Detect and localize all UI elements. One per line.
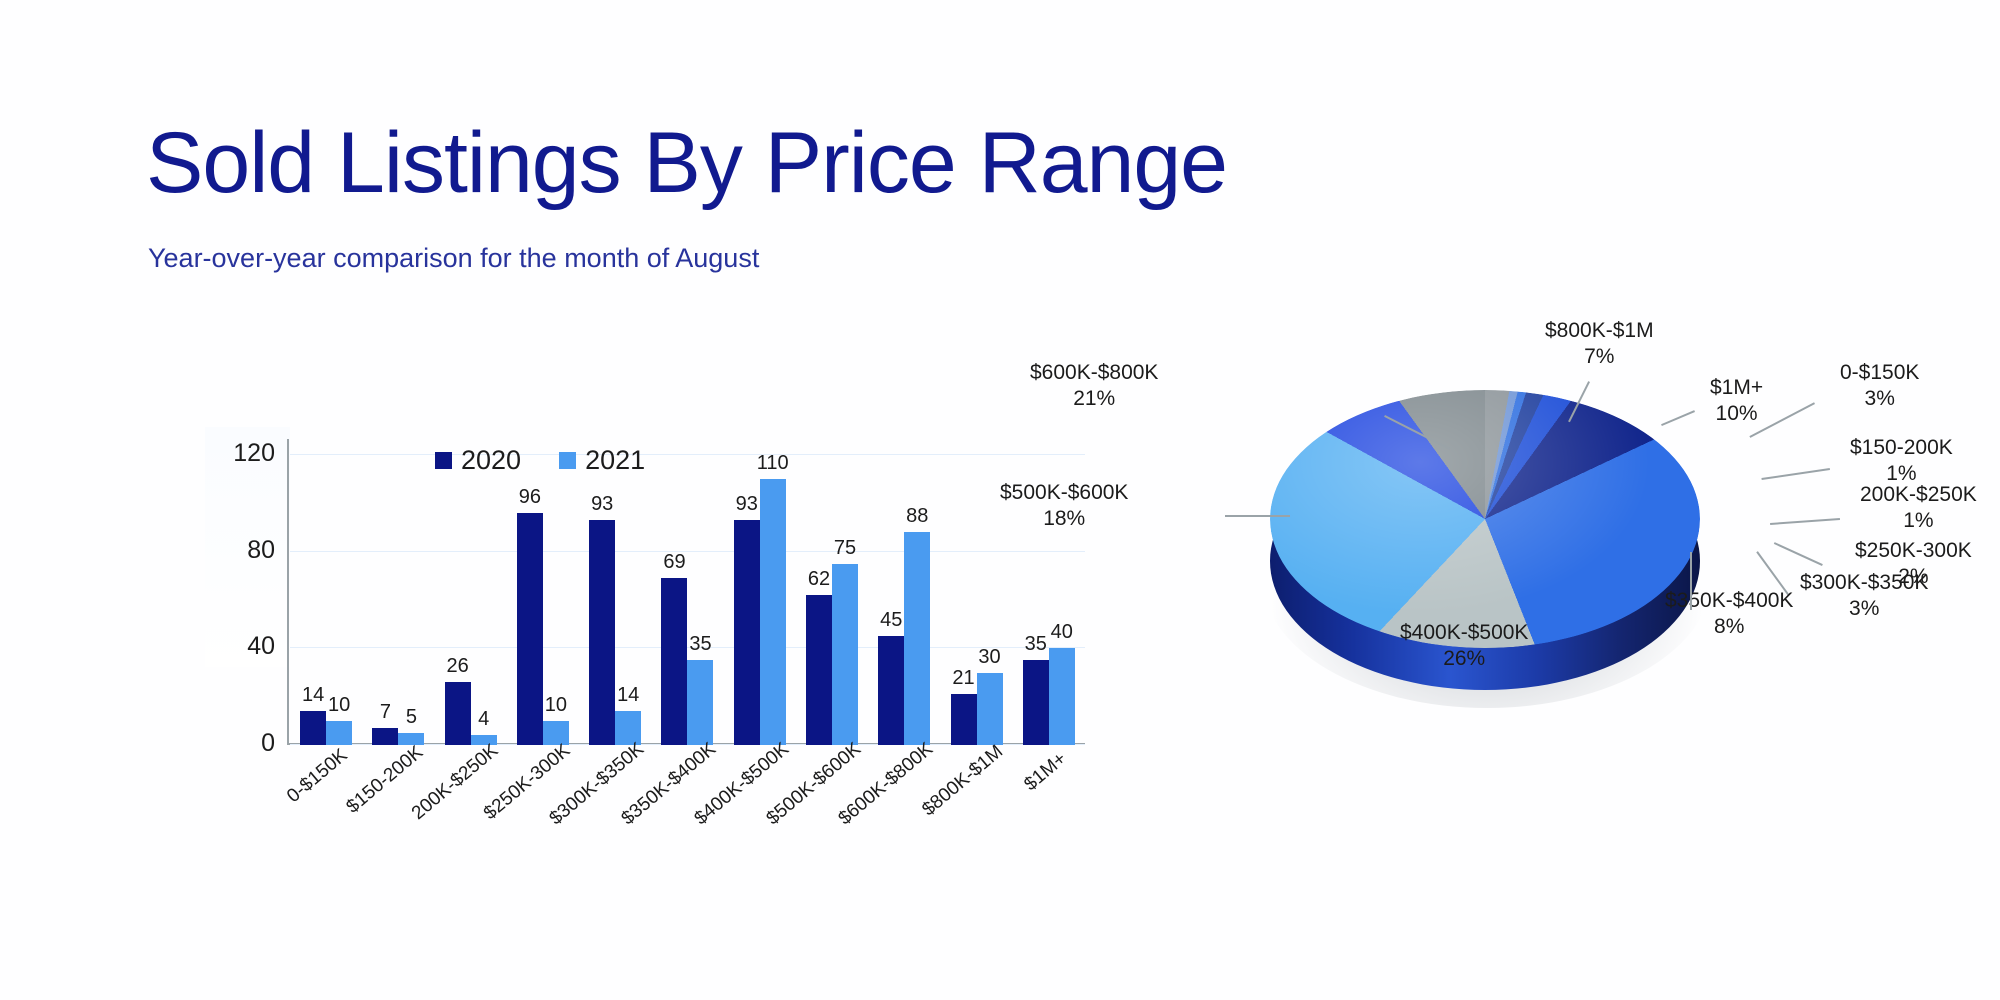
- pie-callout[interactable]: 0-$150K3%: [1840, 360, 1919, 413]
- pie-callout-name: $400K-$500K: [1400, 620, 1528, 646]
- bar-value-label: 4: [478, 708, 489, 731]
- bar-2020[interactable]: 7: [372, 728, 398, 745]
- bar-2020[interactable]: 26: [445, 682, 471, 745]
- pie-callout[interactable]: $800K-$1M7%: [1545, 318, 1654, 371]
- pie-callout[interactable]: $600K-$800K21%: [1030, 360, 1158, 413]
- bar-value-label: 62: [808, 568, 830, 591]
- bar-group: 9314: [579, 455, 651, 745]
- bar-chart: 1410752649610931469359311062754588213035…: [205, 455, 1085, 745]
- bar-2021[interactable]: 75: [832, 564, 858, 745]
- y-tick-label: 80: [205, 536, 275, 565]
- bar-group: 264: [435, 455, 507, 745]
- pie-callout-name: $1M+: [1710, 375, 1763, 401]
- pie-callout-percent: 3%: [1800, 596, 1928, 622]
- bar-value-label: 93: [736, 493, 758, 516]
- bar-2021[interactable]: 40: [1049, 648, 1075, 745]
- y-tick-label: 0: [205, 729, 275, 758]
- pie-callout-name: $150-200K: [1850, 435, 1953, 461]
- bar-value-label: 14: [617, 684, 639, 707]
- pie-callout[interactable]: $350K-$400K8%: [1665, 588, 1793, 641]
- bar-value-label: 7: [380, 701, 391, 724]
- bar-value-label: 75: [834, 537, 856, 560]
- bar-value-label: 26: [447, 655, 469, 678]
- bar-group: 6275: [796, 455, 868, 745]
- page-subtitle: Year-over-year comparison for the month …: [148, 243, 759, 274]
- bar-value-label: 10: [545, 694, 567, 717]
- pie-callout-percent: 3%: [1840, 386, 1919, 412]
- bar-2021[interactable]: 10: [326, 721, 352, 745]
- bar-value-label: 14: [302, 684, 324, 707]
- pie-callout-percent: 8%: [1665, 614, 1793, 640]
- bar-2021[interactable]: 88: [904, 532, 930, 745]
- x-tick: $1M+: [1013, 747, 1085, 867]
- pie-leader-line: [1770, 518, 1840, 525]
- bar-2020[interactable]: 96: [517, 513, 543, 745]
- bar-chart-legend: 2020 2021: [435, 445, 645, 476]
- bar-group: 1410: [290, 455, 362, 745]
- bar-2020[interactable]: 45: [878, 636, 904, 745]
- pie-callout-name: $800K-$1M: [1545, 318, 1654, 344]
- bar-value-label: 30: [978, 646, 1000, 669]
- bar-group: 6935: [651, 455, 723, 745]
- bar-value-label: 45: [880, 609, 902, 632]
- bar-2021[interactable]: 10: [543, 721, 569, 745]
- bar-group: 9610: [507, 455, 579, 745]
- bar-2020[interactable]: 35: [1023, 660, 1049, 745]
- bar-value-label: 21: [952, 667, 974, 690]
- slide-canvas: Sold Listings By Price Range Year-over-y…: [0, 0, 2000, 1000]
- pie-callout[interactable]: 200K-$250K1%: [1860, 482, 1977, 535]
- bar-group: 75: [362, 455, 434, 745]
- y-tick-label: 120: [205, 439, 275, 468]
- pie-leader-line: [1225, 515, 1290, 517]
- bar-value-label: 10: [328, 694, 350, 717]
- pie-callout-name: 200K-$250K: [1860, 482, 1977, 508]
- pie-callout[interactable]: $150-200K1%: [1850, 435, 1953, 488]
- pie-callout-percent: 10%: [1710, 401, 1763, 427]
- pie-callout-percent: 26%: [1400, 646, 1528, 672]
- bar-2020[interactable]: 93: [589, 520, 615, 745]
- bar-2021[interactable]: 110: [760, 479, 786, 745]
- pie-callout-percent: 1%: [1860, 508, 1977, 534]
- legend-swatch-icon-2021: [559, 452, 576, 469]
- page-title: Sold Listings By Price Range: [146, 120, 1227, 206]
- pie-top-face: [1270, 390, 1700, 648]
- bar-2020[interactable]: 14: [300, 711, 326, 745]
- bar-plot-area: 1410752649610931469359311062754588213035…: [290, 455, 1085, 745]
- bar-value-label: 110: [757, 452, 789, 475]
- x-axis-labels: 0-$150K$150-200K200K-$250K$250K-300K$300…: [290, 747, 1085, 867]
- bar-2020[interactable]: 69: [661, 578, 687, 745]
- bar-value-label: 35: [689, 633, 711, 656]
- pie-callout-percent: 7%: [1545, 344, 1654, 370]
- bar-2021[interactable]: 14: [615, 711, 641, 745]
- pie-callout-name: $250K-300K: [1855, 538, 1972, 564]
- bar-value-label: 96: [519, 486, 541, 509]
- bar-value-label: 35: [1025, 633, 1047, 656]
- pie-callout[interactable]: $500K-$600K18%: [1000, 480, 1128, 533]
- y-axis-line: [287, 439, 289, 745]
- pie-callout[interactable]: $1M+10%: [1710, 375, 1763, 428]
- pie-leader-line: [1690, 552, 1692, 610]
- bar-2020[interactable]: 93: [734, 520, 760, 745]
- pie-callout-percent: 21%: [1030, 386, 1158, 412]
- legend-item-2021[interactable]: 2021: [559, 445, 645, 476]
- pie-callout[interactable]: $300K-$350K3%: [1800, 570, 1928, 623]
- bar-group: 4588: [868, 455, 940, 745]
- pie-callout-name: $350K-$400K: [1665, 588, 1793, 614]
- bar-2020[interactable]: 62: [806, 595, 832, 745]
- x-tick: $800K-$1M: [940, 747, 1012, 867]
- legend-item-2020[interactable]: 2020: [435, 445, 521, 476]
- bar-2021[interactable]: 30: [977, 673, 1003, 746]
- pie-callout-name: $300K-$350K: [1800, 570, 1928, 596]
- bar-value-label: 93: [591, 493, 613, 516]
- pie-callout-percent: 18%: [1000, 506, 1128, 532]
- legend-label-2021: 2021: [585, 445, 645, 476]
- pie-callout-name: $500K-$600K: [1000, 480, 1128, 506]
- pie-callout-name: $600K-$800K: [1030, 360, 1158, 386]
- legend-swatch-icon-2020: [435, 452, 452, 469]
- bar-series-container: 1410752649610931469359311062754588213035…: [290, 455, 1085, 745]
- y-tick-label: 40: [205, 632, 275, 661]
- bar-value-label: 69: [663, 551, 685, 574]
- bar-value-label: 88: [906, 505, 928, 528]
- bar-value-label: 40: [1051, 621, 1073, 644]
- pie-chart: $600K-$800K21%$800K-$1M7%$1M+10%0-$150K3…: [1150, 330, 1980, 750]
- bar-2021[interactable]: 35: [687, 660, 713, 745]
- bar-group: 93110: [724, 455, 796, 745]
- pie-callout[interactable]: $400K-$500K26%: [1400, 620, 1528, 673]
- pie-leader-line: [1762, 468, 1830, 480]
- bar-2020[interactable]: 21: [951, 694, 977, 745]
- pie-callout-name: 0-$150K: [1840, 360, 1919, 386]
- legend-label-2020: 2020: [461, 445, 521, 476]
- x-tick-label: $1M+: [1020, 748, 1071, 796]
- pie-slices[interactable]: [1270, 390, 1700, 648]
- bar-value-label: 5: [406, 706, 417, 729]
- x-tick-label: 0-$150K: [283, 745, 352, 808]
- pie-leader-line: [1774, 542, 1823, 566]
